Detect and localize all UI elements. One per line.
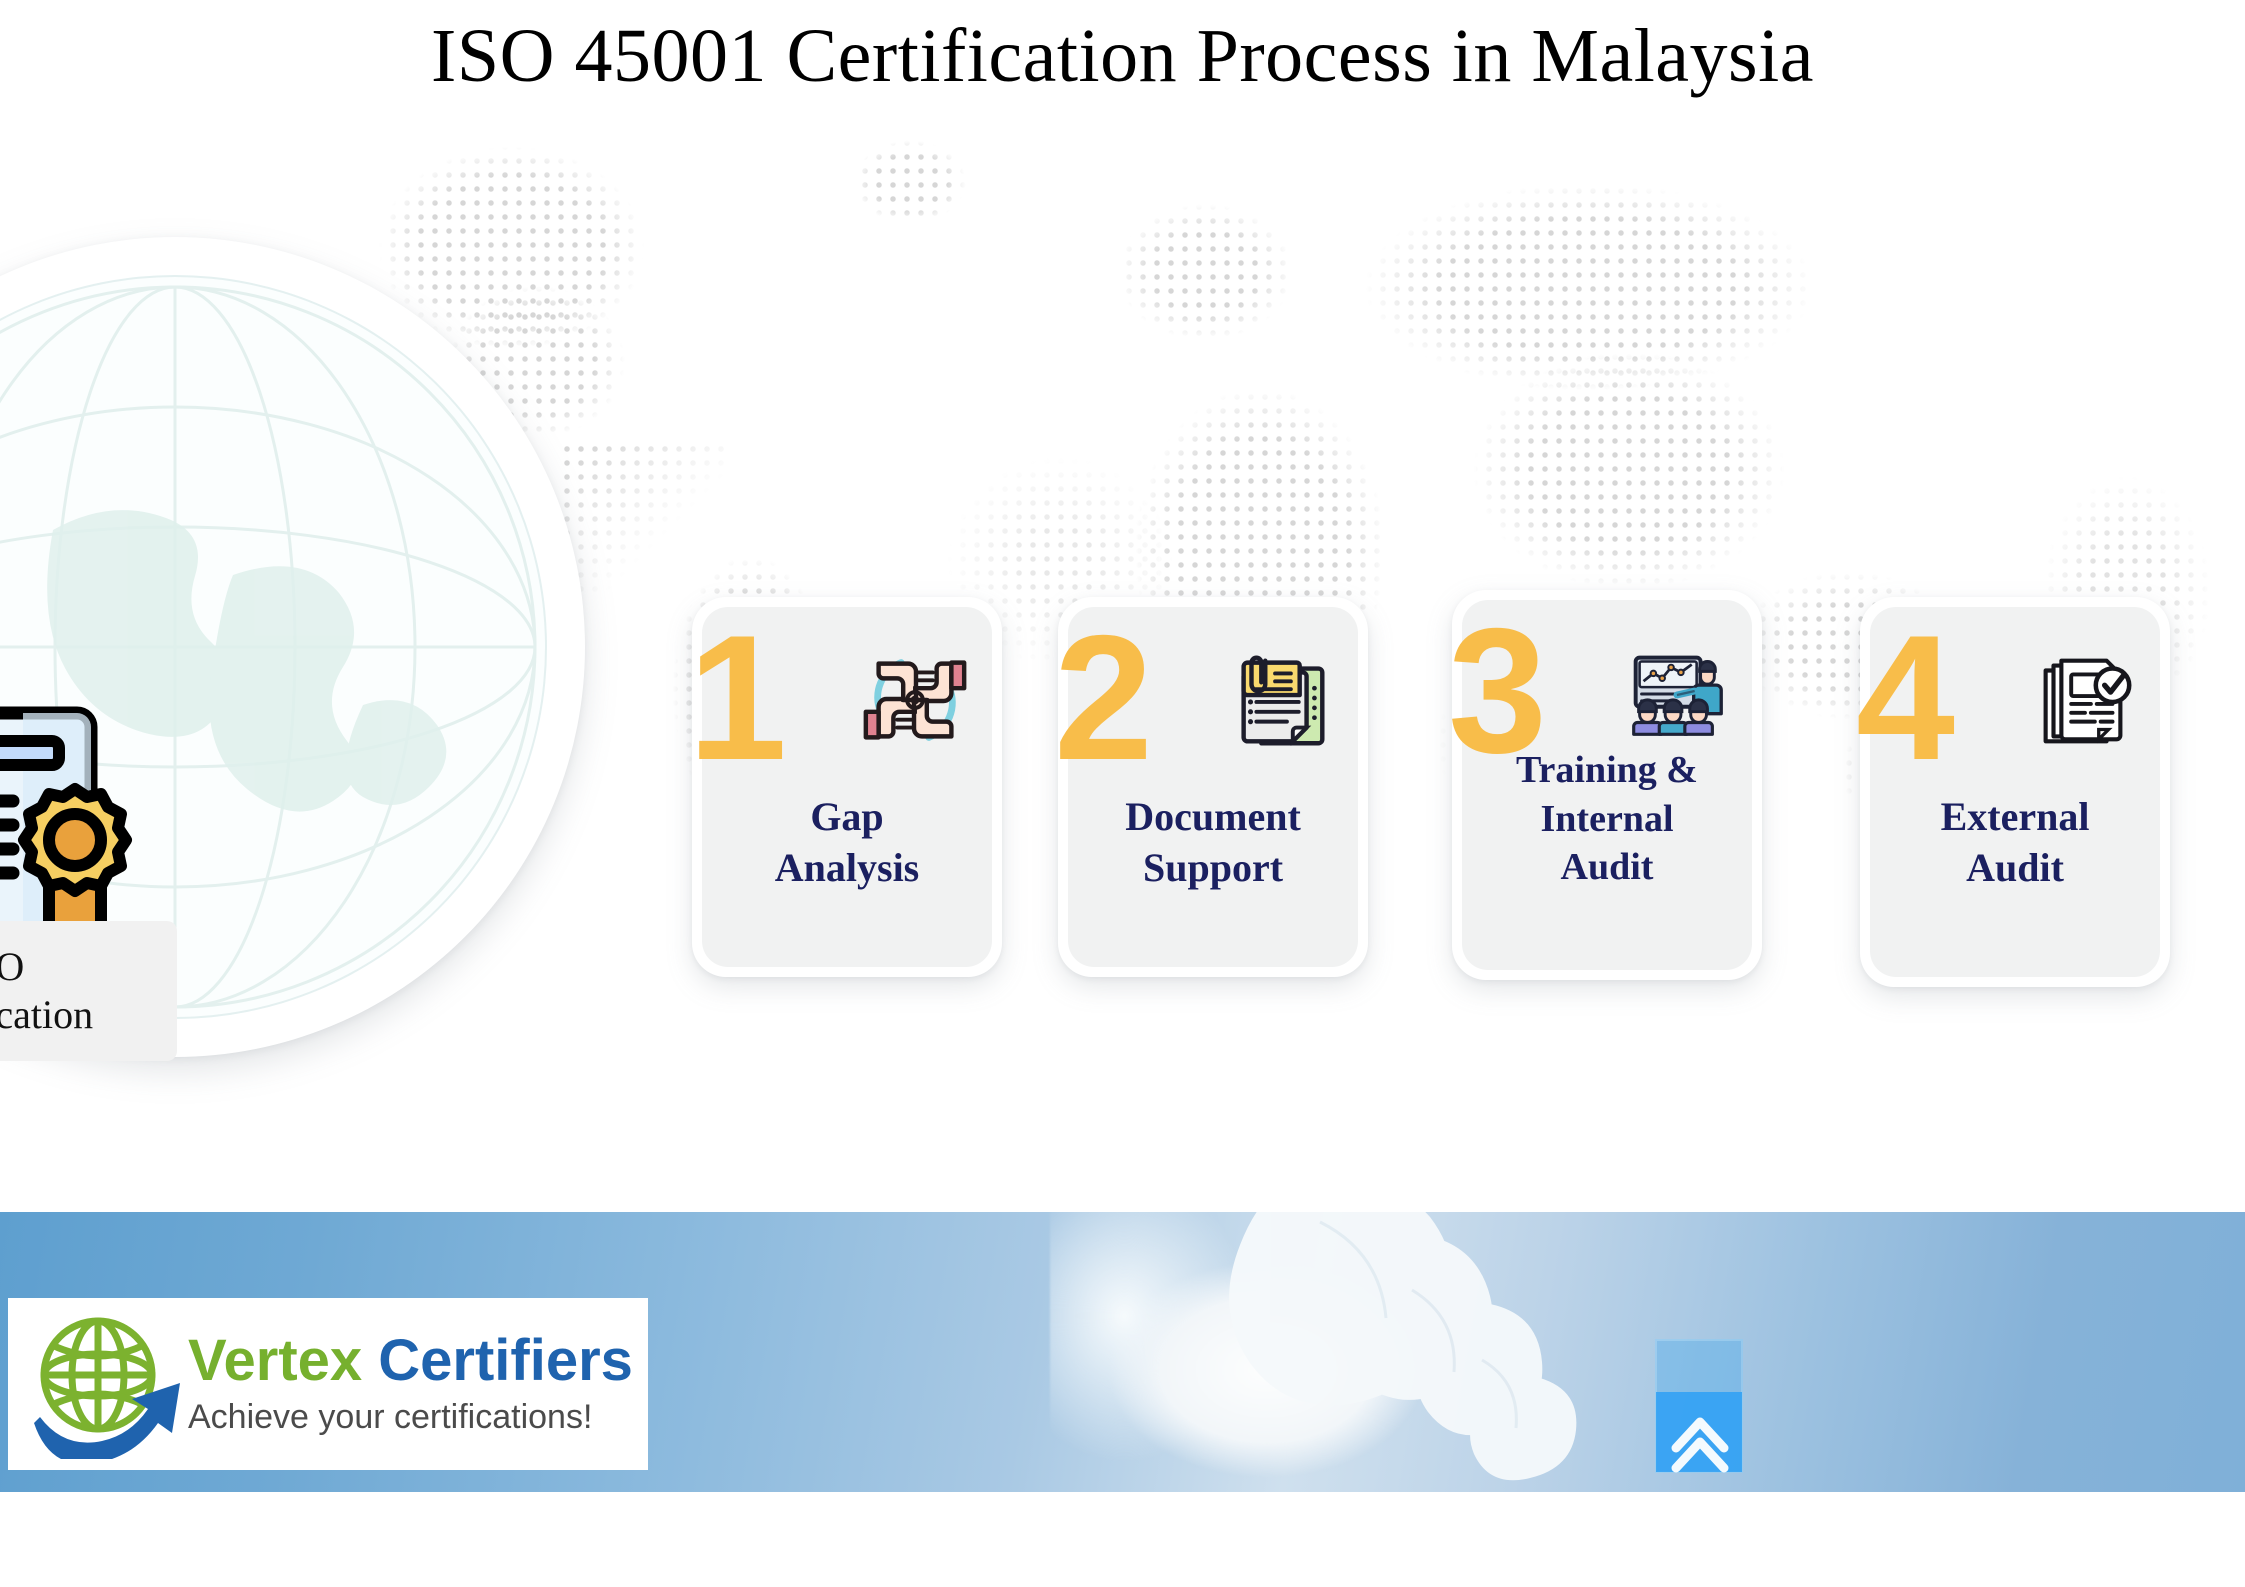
step-card-gap-analysis[interactable]: 1 bbox=[692, 597, 1002, 977]
step-label-4-line2: Audit bbox=[1884, 842, 2146, 893]
step-number-1: 1 bbox=[688, 609, 783, 787]
step-label-2: Document Support bbox=[1082, 791, 1344, 893]
iso-label-line2: Certification bbox=[0, 994, 93, 1036]
step-card-header: 1 bbox=[716, 627, 978, 777]
step-label-3-line2: Internal bbox=[1476, 795, 1738, 844]
step-label-1-line1: Gap bbox=[716, 791, 978, 842]
step-card-inner: 4 bbox=[1870, 607, 2160, 977]
iso-label-line1: ISO bbox=[0, 946, 24, 988]
vertex-certifiers-logo[interactable]: Vertex Certifiers Achieve your certifica… bbox=[8, 1298, 648, 1470]
logo-text-block: Vertex Certifiers Achieve your certifica… bbox=[188, 1332, 633, 1437]
step-card-external-audit[interactable]: 4 bbox=[1860, 597, 2170, 987]
step-number-4: 4 bbox=[1856, 609, 1951, 787]
step-card-training-internal-audit[interactable]: 3 bbox=[1452, 590, 1762, 980]
logo-word-vertex: Vertex bbox=[188, 1328, 362, 1393]
clipboard-documents-icon bbox=[1222, 641, 1340, 759]
step-card-header: 2 bbox=[1082, 627, 1344, 777]
globe-arrow-logo-icon bbox=[22, 1309, 182, 1459]
document-stack-checkmark-icon bbox=[2024, 641, 2142, 759]
step-card-inner: 3 bbox=[1462, 600, 1752, 970]
step-number-2: 2 bbox=[1054, 609, 1149, 787]
glowing-arrow-touch-button-icon bbox=[1642, 1330, 1762, 1480]
logo-wordmark: Vertex Certifiers bbox=[188, 1332, 633, 1390]
step-card-header: 4 bbox=[1884, 627, 2146, 777]
step-label-3-line3: Audit bbox=[1476, 843, 1738, 892]
logo-word-certifiers: Certifiers bbox=[378, 1328, 633, 1393]
four-hands-teamwork-target-icon bbox=[856, 641, 974, 759]
step-label-2-line2: Support bbox=[1082, 842, 1344, 893]
training-presentation-audience-icon bbox=[1616, 634, 1734, 752]
gloved-fingers-shape bbox=[1020, 1212, 1720, 1492]
iso-certification-globe: ISO Certification bbox=[0, 237, 585, 1057]
logo-tagline: Achieve your certifications! bbox=[188, 1398, 633, 1437]
step-label-1: Gap Analysis bbox=[716, 791, 978, 893]
step-card-inner: 1 bbox=[702, 607, 992, 967]
iso-certification-label: ISO Certification bbox=[0, 921, 177, 1061]
step-label-4-line1: External bbox=[1884, 791, 2146, 842]
main-panel: ISO Certification 1 bbox=[0, 112, 2245, 1212]
step-label-2-line1: Document bbox=[1082, 791, 1344, 842]
step-card-header: 3 bbox=[1476, 620, 1738, 742]
step-label-4: External Audit bbox=[1884, 791, 2146, 893]
step-card-document-support[interactable]: 2 bbox=[1058, 597, 1368, 977]
step-label-1-line2: Analysis bbox=[716, 842, 978, 893]
step-number-3: 3 bbox=[1448, 602, 1543, 780]
page-title: ISO 45001 Certification Process in Malay… bbox=[0, 18, 2245, 94]
infographic-root: ISO 45001 Certification Process in Malay… bbox=[0, 0, 2245, 1587]
step-card-inner: 2 bbox=[1068, 607, 1358, 967]
